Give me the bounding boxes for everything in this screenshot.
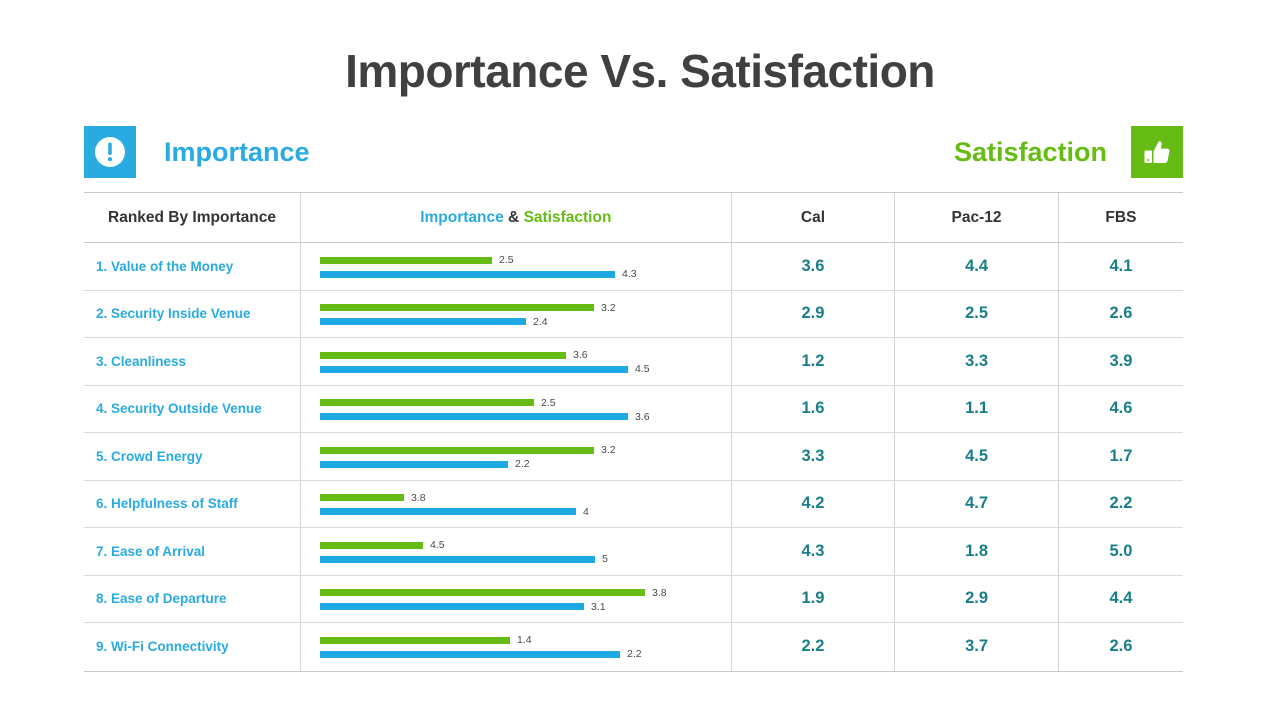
rank-label: 2. Security Inside Venue [96,306,251,321]
thumbs-up-icon [1131,126,1183,178]
satisfaction-bar-line: 4.5 [320,363,650,375]
row-bars-cell: 3.64.5 [301,338,732,385]
table-row: 1. Value of the Money2.54.33.64.44.1 [84,243,1183,291]
satisfaction-bar-value: 5 [602,553,608,565]
importance-bar-value: 2.5 [541,397,556,409]
row-rank-cell: 7. Ease of Arrival [84,528,301,575]
importance-bar-value: 2.5 [499,254,514,266]
row-rank-cell: 5. Crowd Energy [84,433,301,480]
fbs-value: 4.1 [1109,257,1132,276]
importance-bar [320,542,423,549]
importance-bar [320,304,594,311]
importance-bar-line: 3.8 [320,492,426,504]
row-rank-cell: 4. Security Outside Venue [84,386,301,433]
fbs-value: 4.4 [1109,589,1132,608]
bar-group: 3.83.1 [301,576,731,623]
row-bars-cell: 3.22.2 [301,433,732,480]
table-header-row: Ranked By Importance Importance & Satisf… [84,193,1183,243]
row-rank-cell: 2. Security Inside Venue [84,291,301,338]
pac12-value: 2.9 [965,589,988,608]
fbs-cell: 4.1 [1059,243,1183,290]
column-header-bars: Importance & Satisfaction [301,193,732,242]
importance-bar-line: 3.6 [320,349,588,361]
row-rank-cell: 9. Wi-Fi Connectivity [84,623,301,671]
importance-bar-value: 3.2 [601,302,616,314]
column-header-ampersand: & [504,209,524,226]
table-row: 7. Ease of Arrival4.554.31.85.0 [84,528,1183,576]
importance-bar-value: 3.2 [601,444,616,456]
table-row: 4. Security Outside Venue2.53.61.61.14.6 [84,386,1183,434]
pac12-value: 3.7 [965,637,988,656]
importance-bar-line: 3.2 [320,302,616,314]
cal-cell: 4.2 [732,481,896,528]
satisfaction-bar-line: 5 [320,553,608,565]
satisfaction-bar [320,556,595,563]
importance-bar [320,352,566,359]
cal-cell: 2.2 [732,623,896,671]
satisfaction-bar-value: 3.6 [635,411,650,423]
importance-bar [320,447,594,454]
satisfaction-bar [320,366,628,373]
row-bars-cell: 3.84 [301,481,732,528]
satisfaction-bar-line: 2.2 [320,648,642,660]
table-row: 3. Cleanliness3.64.51.23.33.9 [84,338,1183,386]
satisfaction-bar-value: 2.2 [627,648,642,660]
rank-label: 8. Ease of Departure [96,591,227,606]
satisfaction-bar-line: 4.3 [320,268,637,280]
bar-group: 2.54.3 [301,243,731,290]
cal-value: 1.2 [801,352,824,371]
satisfaction-bar [320,651,620,658]
bar-group: 1.42.2 [301,623,731,671]
importance-bar-value: 4.5 [430,539,445,551]
satisfaction-bar-value: 4 [583,506,589,518]
pac12-value: 4.7 [965,494,988,513]
satisfaction-bar-value: 2.2 [515,458,530,470]
pac12-value: 1.1 [965,399,988,418]
importance-bar-line: 3.8 [320,587,667,599]
fbs-cell: 3.9 [1059,338,1183,385]
importance-bar [320,257,492,264]
pac12-value: 3.3 [965,352,988,371]
satisfaction-bar [320,318,526,325]
row-rank-cell: 3. Cleanliness [84,338,301,385]
cal-value: 1.6 [801,399,824,418]
legend-band: Importance Satisfaction [84,126,1183,178]
satisfaction-bar [320,461,508,468]
importance-bar [320,637,510,644]
cal-cell: 1.2 [732,338,896,385]
satisfaction-bar-value: 4.5 [635,363,650,375]
importance-bar [320,494,404,501]
cal-value: 2.2 [801,637,824,656]
legend-label-importance: Importance [164,126,310,178]
pac12-cell: 4.7 [895,481,1059,528]
satisfaction-bar-value: 4.3 [622,268,637,280]
row-bars-cell: 3.83.1 [301,576,732,623]
satisfaction-bar-value: 3.1 [591,601,606,613]
fbs-value: 2.6 [1109,637,1132,656]
importance-bar-value: 3.6 [573,349,588,361]
pac12-cell: 1.8 [895,528,1059,575]
fbs-cell: 4.6 [1059,386,1183,433]
fbs-value: 1.7 [1109,447,1132,466]
cal-cell: 2.9 [732,291,896,338]
pac12-cell: 2.9 [895,576,1059,623]
importance-bar-line: 3.2 [320,444,616,456]
fbs-value: 3.9 [1109,352,1132,371]
exclamation-circle-icon [84,126,136,178]
rank-label: 3. Cleanliness [96,354,186,369]
rank-label: 9. Wi-Fi Connectivity [96,639,229,654]
pac12-value: 2.5 [965,304,988,323]
legend-label-satisfaction: Satisfaction [954,126,1107,178]
importance-bar-value: 3.8 [411,492,426,504]
cal-value: 3.6 [801,257,824,276]
importance-bar-line: 1.4 [320,634,532,646]
importance-bar-line: 2.5 [320,397,556,409]
fbs-value: 2.2 [1109,494,1132,513]
fbs-cell: 2.6 [1059,623,1183,671]
satisfaction-bar-line: 3.6 [320,411,650,423]
fbs-cell: 1.7 [1059,433,1183,480]
satisfaction-bar-line: 4 [320,506,589,518]
cal-value: 2.9 [801,304,824,323]
rank-label: 6. Helpfulness of Staff [96,496,238,511]
satisfaction-bar [320,508,576,515]
fbs-cell: 4.4 [1059,576,1183,623]
importance-bar-line: 4.5 [320,539,445,551]
bar-group: 3.22.4 [301,291,731,338]
satisfaction-bar-value: 2.4 [533,316,548,328]
cal-cell: 4.3 [732,528,896,575]
importance-bar [320,589,645,596]
column-header-rank: Ranked By Importance [84,193,301,242]
pac12-value: 1.8 [965,542,988,561]
row-bars-cell: 3.22.4 [301,291,732,338]
column-header-pac12: Pac-12 [895,193,1059,242]
cal-cell: 3.6 [732,243,896,290]
satisfaction-bar-line: 2.2 [320,458,530,470]
table-row: 5. Crowd Energy3.22.23.34.51.7 [84,433,1183,481]
row-bars-cell: 1.42.2 [301,623,732,671]
comparison-table: Ranked By Importance Importance & Satisf… [84,192,1183,672]
cal-cell: 3.3 [732,433,896,480]
bar-group: 4.55 [301,528,731,575]
importance-bar [320,399,534,406]
row-rank-cell: 1. Value of the Money [84,243,301,290]
cal-cell: 1.6 [732,386,896,433]
row-bars-cell: 2.53.6 [301,386,732,433]
rank-label: 7. Ease of Arrival [96,544,205,559]
importance-bar-value: 1.4 [517,634,532,646]
table-row: 9. Wi-Fi Connectivity1.42.22.23.72.6 [84,623,1183,671]
table-row: 2. Security Inside Venue3.22.42.92.52.6 [84,291,1183,339]
page-title: Importance Vs. Satisfaction [0,46,1280,97]
cal-value: 4.3 [801,542,824,561]
cal-cell: 1.9 [732,576,896,623]
bar-group: 3.84 [301,481,731,528]
pac12-cell: 3.7 [895,623,1059,671]
rank-label: 4. Security Outside Venue [96,401,262,416]
cal-value: 1.9 [801,589,824,608]
pac12-value: 4.4 [965,257,988,276]
satisfaction-bar-line: 3.1 [320,601,606,613]
column-header-importance: Importance [420,209,504,226]
rank-label: 1. Value of the Money [96,259,233,274]
fbs-cell: 5.0 [1059,528,1183,575]
column-header-fbs: FBS [1059,193,1183,242]
row-rank-cell: 8. Ease of Departure [84,576,301,623]
fbs-value: 2.6 [1109,304,1132,323]
fbs-value: 4.6 [1109,399,1132,418]
importance-bar-line: 2.5 [320,254,514,266]
row-rank-cell: 6. Helpfulness of Staff [84,481,301,528]
pac12-value: 4.5 [965,447,988,466]
cal-value: 3.3 [801,447,824,466]
cal-value: 4.2 [801,494,824,513]
bar-group: 3.64.5 [301,338,731,385]
column-header-satisfaction: Satisfaction [524,209,612,226]
bar-group: 3.22.2 [301,433,731,480]
legend-satisfaction: Satisfaction [954,126,1183,178]
pac12-cell: 2.5 [895,291,1059,338]
legend-importance: Importance [84,126,310,178]
pac12-cell: 3.3 [895,338,1059,385]
pac12-cell: 4.5 [895,433,1059,480]
importance-bar-value: 3.8 [652,587,667,599]
satisfaction-bar [320,603,584,610]
satisfaction-bar [320,413,628,420]
satisfaction-bar-line: 2.4 [320,316,548,328]
table-row: 8. Ease of Departure3.83.11.92.94.4 [84,576,1183,624]
column-header-cal: Cal [732,193,896,242]
fbs-cell: 2.2 [1059,481,1183,528]
rank-label: 5. Crowd Energy [96,449,203,464]
bar-group: 2.53.6 [301,386,731,433]
fbs-cell: 2.6 [1059,291,1183,338]
table-row: 6. Helpfulness of Staff3.844.24.72.2 [84,481,1183,529]
satisfaction-bar [320,271,615,278]
pac12-cell: 4.4 [895,243,1059,290]
table-body: 1. Value of the Money2.54.33.64.44.12. S… [84,243,1183,671]
fbs-value: 5.0 [1109,542,1132,561]
row-bars-cell: 4.55 [301,528,732,575]
pac12-cell: 1.1 [895,386,1059,433]
row-bars-cell: 2.54.3 [301,243,732,290]
